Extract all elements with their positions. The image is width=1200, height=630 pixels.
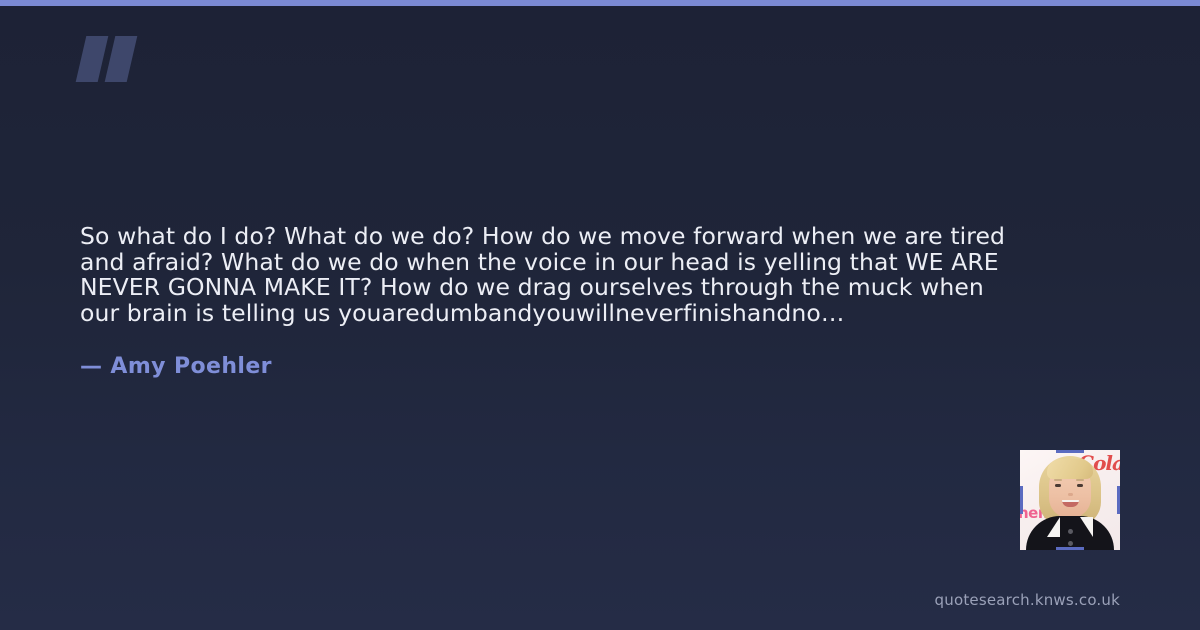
- quotation-mark-bar-right: [105, 36, 138, 82]
- quotation-mark-bar-left: [76, 36, 109, 82]
- quote-text: So what do I do? What do we do? How do w…: [80, 224, 1010, 326]
- portrait-frame-tick-right: [1117, 486, 1120, 514]
- attribution-dash: —: [80, 354, 102, 379]
- portrait-button-lower: [1068, 541, 1073, 546]
- quote-card: So what do I do? What do we do? How do w…: [0, 0, 1200, 630]
- portrait-eye-left: [1055, 484, 1061, 487]
- author-name: Amy Poehler: [110, 354, 271, 379]
- quotation-mark-icon: [79, 36, 135, 82]
- portrait-brow-left: [1054, 479, 1062, 481]
- portrait-brow-right: [1076, 479, 1084, 481]
- portrait-frame-tick-bottom: [1056, 547, 1084, 550]
- author-portrait: Cola nem: [1020, 450, 1120, 550]
- portrait-collar-right: [1080, 517, 1093, 537]
- portrait-fringe: [1047, 459, 1093, 479]
- quote-attribution: —Amy Poehler: [80, 352, 272, 382]
- portrait-frame-tick-top: [1056, 450, 1084, 453]
- portrait-collar-left: [1047, 517, 1060, 537]
- top-accent-bar: [0, 0, 1200, 6]
- portrait-nose: [1068, 493, 1073, 496]
- portrait-frame-tick-left: [1020, 486, 1023, 514]
- portrait-button-upper: [1068, 529, 1073, 534]
- author-portrait-image: Cola nem: [1020, 450, 1120, 550]
- portrait-eye-right: [1077, 484, 1083, 487]
- source-url: quotesearch.knws.co.uk: [935, 590, 1120, 610]
